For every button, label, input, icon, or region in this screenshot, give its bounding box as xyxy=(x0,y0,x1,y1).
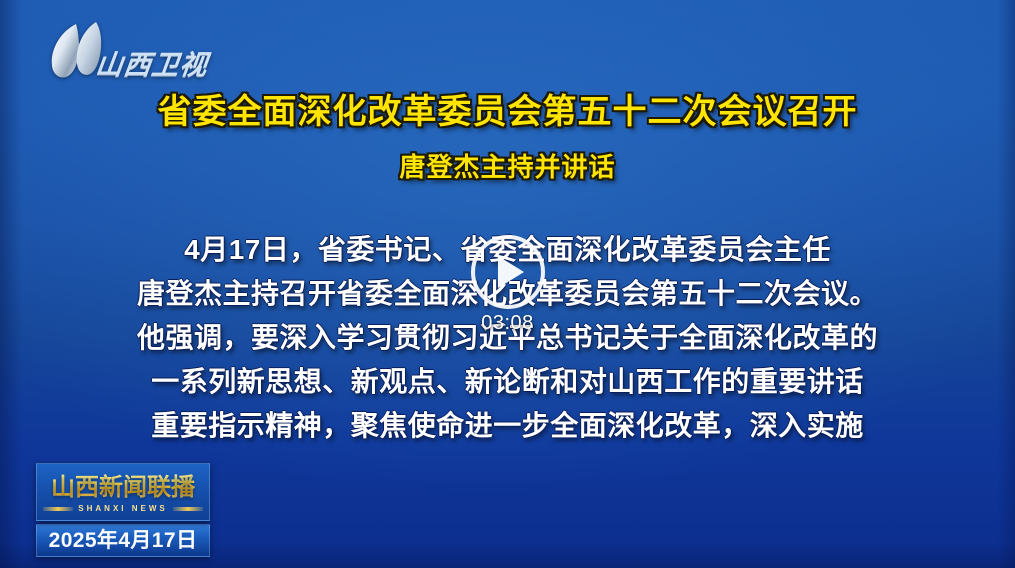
channel-name: 山西卫视 xyxy=(94,43,211,82)
play-icon xyxy=(498,256,524,288)
video-frame: 山西卫视 省委全面深化改革委员会第五十二次会议召开 唐登杰主持并讲话 4月17日… xyxy=(0,0,1015,568)
body-line: 重要指示精神，聚焦使命进一步全面深化改革，深入实施 xyxy=(113,404,903,448)
video-duration: 03:08 xyxy=(481,312,534,335)
rule-left xyxy=(43,507,73,511)
headline-sub: 唐登杰主持并讲话 xyxy=(0,147,1015,184)
headline-block: 省委全面深化改革委员会第五十二次会议召开 唐登杰主持并讲话 xyxy=(0,92,1015,184)
program-title-en-row: SHANXI NEWS xyxy=(43,504,203,513)
play-button[interactable] xyxy=(471,235,545,309)
channel-logo: 山西卫视 xyxy=(46,22,226,84)
rule-right xyxy=(173,507,203,511)
program-bug: 山西新闻联播 SHANXI NEWS 2025年4月17日 xyxy=(36,463,210,557)
headline-main: 省委全面深化改革委员会第五十二次会议召开 xyxy=(0,92,1015,133)
program-date: 2025年4月17日 xyxy=(36,524,210,557)
body-line: 一系列新思想、新观点、新论断和对山西工作的重要讲话 xyxy=(113,360,903,404)
program-title-cn: 山西新闻联播 xyxy=(37,467,209,502)
program-title-en: SHANXI NEWS xyxy=(78,504,167,513)
program-title-bar: 山西新闻联播 SHANXI NEWS xyxy=(36,463,210,521)
